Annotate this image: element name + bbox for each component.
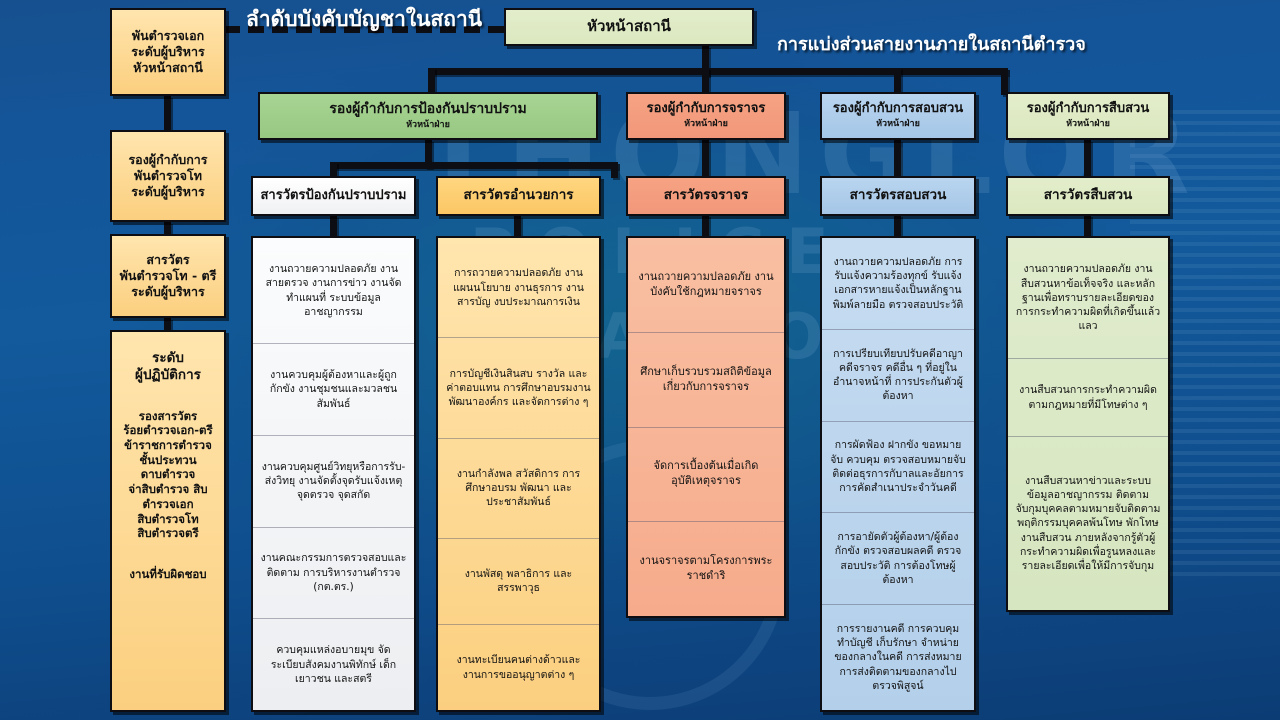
head-inquiry-subtitle: หัวหน้าฝ่าย [1066,119,1110,131]
connector-prevention-bar [330,162,618,169]
connector-traffic-head-unit [702,140,709,176]
task-item[interactable]: งานกำลังพล สวัสดิการ การศึกษาอบรม พัฒนา … [438,438,599,538]
task-item[interactable]: ควบคุมแหล่งอบายมุข จัดระเบียบสังคมงานพิท… [253,618,414,710]
node-rank-1[interactable]: พันตำรวจเอก ระดับผู้บริหาร หัวหน้าสถานี [110,8,226,96]
connector-drop-inquiry [1001,68,1008,95]
rank-4-footer: งานที่รับผิดชอบ [129,567,206,582]
org-chart-canvas: THONGLOR POLICE STATION ลำดับบังคับบัญชา… [0,0,1280,720]
tasks-admin: การถวายความปลอดภัย งานแผนนโยบาย งานธุรกา… [436,236,601,712]
tasks-investigation: งานถวายความปลอดภัย การรับแจ้งความร้องทุก… [820,236,976,712]
title-chain-of-command: ลำดับบังคับบัญชาในสถานี [246,3,482,36]
task-item[interactable]: งานคณะกรรมการตรวจสอบและติดตาม การบริหารง… [253,527,414,619]
rank-3-line-2: ระดับผู้บริหาร [131,284,204,300]
connector-drop-investigation [894,68,901,95]
unit-admin-title: สารวัตรอำนวยการ [463,187,573,204]
head-investigation-title: รองผู้กำกับการสอบสวน [833,101,963,118]
connector-investigation-unit-tasks [894,215,901,237]
task-item[interactable]: งานพัสดุ พลาธิการ และสรรพาวุธ [438,538,599,624]
node-unit-admin[interactable]: สารวัตรอำนวยการ [436,176,601,216]
node-rank-4[interactable]: ระดับ ผู้ปฏิบัติการ รองสารวัตร ร้อยตำรวจ… [110,330,226,712]
tasks-prevention: งานถวายความปลอดภัย งานสายตรวจ งานการข่าว… [251,236,416,712]
connector-unit-admin-down [514,216,521,236]
task-item[interactable]: งานถวายความปลอดภัย งานบังคับใช้กฎหมายจรา… [628,238,784,332]
rank-3-line-1: พันตำรวจโท - ตรี [120,268,217,284]
task-item[interactable]: งานสืบสวนหาข่าวและระบบข้อมูลอาชญากรรม ติ… [1008,436,1168,610]
node-head-traffic[interactable]: รองผู้กำกับการจราจร หัวหน้าฝ่าย [626,92,786,140]
task-item[interactable]: การเปรียบเทียบปรับคดีอาญา คดีจราจร คดีอื… [822,329,974,421]
tasks-inquiry: งานถวายความปลอดภัย งานสืบสวนหาข้อเท็จจริ… [1006,236,1170,612]
task-item[interactable]: งานควบคุมผู้ต้องหาและผู้ถูกกักขัง งานชุม… [253,343,414,435]
node-station-chief[interactable]: หัวหน้าสถานี [504,8,754,46]
unit-inquiry-title: สารวัตรสืบสวน [1044,187,1133,204]
node-head-inquiry[interactable]: รองผู้กำกับการสืบสวน หัวหน้าฝ่าย [1006,92,1170,140]
head-inquiry-title: รองผู้กำกับการสืบสวน [1027,101,1150,118]
rank-4-line-0: รองสารวัตร [139,409,197,424]
head-prevention-title: รองผู้กำกับการป้องกันปราบปราม [329,101,526,119]
connector-rank3-rank4 [164,318,171,330]
rank-4-line-1: ร้อยตำรวจเอก-ตรี [123,423,212,438]
node-unit-traffic[interactable]: สารวัตรจราจร [626,176,786,216]
rank-3-line-0: สารวัตร [146,252,189,268]
connector-unit-prevention-down [330,216,337,236]
task-item[interactable]: การอายัดตัวผู้ต้องหา/ผู้ต้องกักขัง ตรวจส… [822,512,974,604]
rank-1-line-1: ระดับผู้บริหาร [131,44,204,60]
head-investigation-subtitle: หัวหน้าฝ่าย [876,119,920,131]
head-traffic-subtitle: หัวหน้าฝ่าย [684,119,728,131]
rank-4-heading-0: ระดับ [152,350,184,367]
task-item[interactable]: งานถวายความปลอดภัย การรับแจ้งความร้องทุก… [822,238,974,329]
connector-inquiry-head-unit [1084,140,1091,176]
head-traffic-title: รองผู้กำกับการจราจร [647,101,766,118]
node-station-chief-label: หัวหน้าสถานี [587,17,671,36]
connector-drop-prevention [428,68,435,95]
connector-traffic-unit-tasks [702,215,709,237]
unit-traffic-title: สารวัตรจราจร [664,187,749,204]
connector-prevention-right-drop [611,162,618,178]
node-unit-prevention[interactable]: สารวัตรป้องกันปราบปราม [251,176,416,216]
rank-4-line-4: ดาบตำรวจ [141,467,196,482]
task-item[interactable]: การถวายความปลอดภัย งานแผนนโยบาย งานธุรกา… [438,238,599,337]
node-unit-investigation[interactable]: สารวัตรสอบสวน [820,176,976,216]
connector-drop-traffic [702,68,709,95]
task-item[interactable]: งานถวายความปลอดภัย งานสายตรวจ งานการข่าว… [253,238,414,343]
connector-horizontal-bus [428,68,1008,75]
connector-investigation-head-unit [894,140,901,176]
task-item[interactable]: งานทะเบียนคนต่างด้าวและงานการขออนุญาตต่า… [438,624,599,710]
rank-4-line-7: สิบตำรวจโท [137,512,198,527]
connector-inquiry-unit-tasks [1084,215,1091,237]
unit-prevention-title: สารวัตรป้องกันปราบปราม [261,188,407,205]
node-rank-3[interactable]: สารวัตร พันตำรวจโท - ตรี ระดับผู้บริหาร [110,234,226,318]
rank-4-line-5: จ่าสิบตำรวจ สิบ [128,482,207,497]
task-item[interactable]: งานควบคุมศูนย์วิทยุหรือการรับ-ส่งวิทยุ ง… [253,435,414,527]
task-item[interactable]: การบัญชีเงินสินสบ รางวัล และค่าตอบแทน กา… [438,337,599,437]
rank-4-line-8: สิบตำรวจตรี [137,526,198,541]
task-item[interactable]: งานถวายความปลอดภัย งานสืบสวนหาข้อเท็จจริ… [1008,238,1168,358]
rank-1-line-2: หัวหน้าสถานี [133,60,203,76]
node-unit-inquiry[interactable]: สารวัตรสืบสวน [1006,176,1170,216]
tasks-traffic: งานถวายความปลอดภัย งานบังคับใช้กฎหมายจรา… [626,236,786,618]
task-item[interactable]: ศึกษาเก็บรวบรวมสถิติข้อมูลเกี่ยวกับการจร… [628,332,784,427]
task-item[interactable]: การผัดฟ้อง ฝากขัง ขอหมายจับ ควบคุม ตรวจส… [822,421,974,513]
node-rank-2[interactable]: รองผู้กำกับการ พันตำรวจโท ระดับผู้บริหาร [110,130,226,222]
connector-rank2-rank3 [164,222,171,234]
rank-2-line-1: พันตำรวจโท [134,168,202,184]
title-station-division: การแบ่งส่วนสายงานภายในสถานีตำรวจ [777,29,1086,58]
rank-4-line-3: ชั้นประทวน [139,453,196,468]
node-head-investigation[interactable]: รองผู้กำกับการสอบสวน หัวหน้าฝ่าย [820,92,976,140]
connector-rank1-rank2 [164,96,171,130]
rank-1-line-0: พันตำรวจเอก [132,28,204,44]
rank-4-heading-1: ผู้ปฏิบัติการ [135,367,201,384]
rank-4-line-6: ตำรวจเอก [142,497,193,512]
head-prevention-subtitle: หัวหน้าฝ่าย [406,120,450,132]
rank-2-line-2: ระดับผู้บริหาร [131,184,204,200]
task-item[interactable]: จัดการเบื้องต้นเมื่อเกิดอุบัติเหตุจราจร [628,427,784,522]
node-head-prevention[interactable]: รองผู้กำกับการป้องกันปราบปราม หัวหน้าฝ่า… [258,92,598,140]
rank-4-line-2: ข้าราชการตำรวจ [124,438,212,453]
unit-investigation-title: สารวัตรสอบสวน [850,187,947,204]
task-item[interactable]: งานสืบสวนการกระทำความผิดตามกฎหมายที่มีโท… [1008,358,1168,436]
task-item[interactable]: การรายงานคดี การควบคุม ทำบัญชี เก็บรักษา… [822,604,974,710]
rank-2-line-0: รองผู้กำกับการ [128,152,207,168]
task-item[interactable]: งานจราจรตามโครงการพระราชดำริ [628,521,784,616]
